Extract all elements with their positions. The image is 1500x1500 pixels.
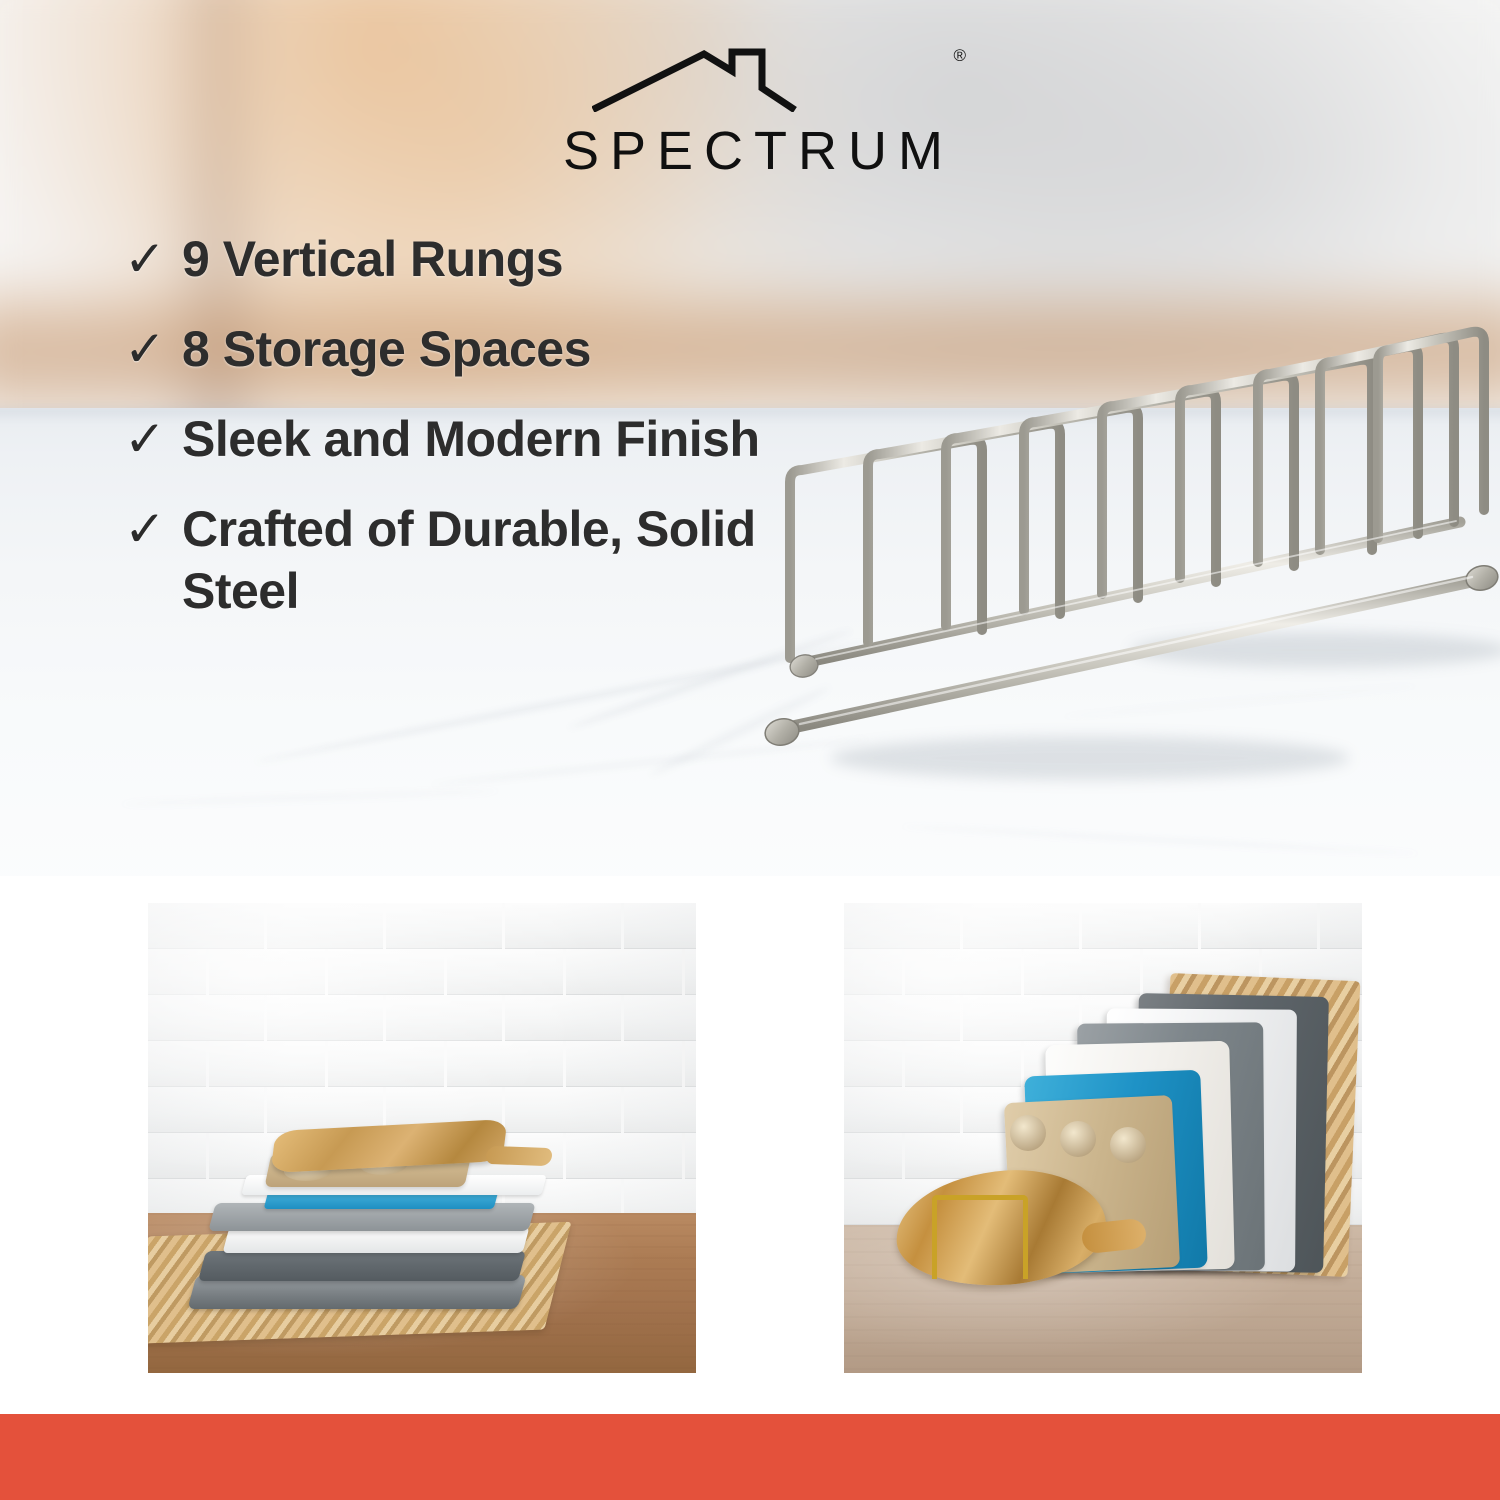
footer-accent-bar bbox=[0, 1414, 1500, 1500]
feature-list: ✓ 9 Vertical Rungs ✓ 8 Storage Spaces ✓ … bbox=[124, 228, 784, 650]
wire-rack-illustration bbox=[760, 258, 1500, 828]
board-handle bbox=[484, 1146, 553, 1166]
feature-label: Sleek and Modern Finish bbox=[182, 408, 784, 470]
brand-wordmark: SPECTRUM bbox=[552, 124, 954, 178]
feature-label: 8 Storage Spaces bbox=[182, 318, 784, 380]
feature-label: 9 Vertical Rungs bbox=[182, 228, 784, 290]
feature-label: Crafted of Durable, Solid Steel bbox=[182, 498, 784, 622]
lifestyle-photo-before bbox=[148, 903, 696, 1373]
product-marketing-image: SPECTRUM® ✓ 9 Vertical Rungs ✓ 8 Storage… bbox=[0, 0, 1500, 1500]
feature-item: ✓ Sleek and Modern Finish bbox=[124, 408, 784, 470]
rack-shadow bbox=[830, 632, 1500, 780]
house-roof-chimney-icon bbox=[592, 44, 910, 112]
check-icon: ✓ bbox=[124, 498, 182, 560]
feature-item: ✓ 9 Vertical Rungs bbox=[124, 228, 784, 290]
muffin-cup bbox=[1060, 1121, 1096, 1157]
rack-rungs bbox=[790, 332, 1484, 658]
feature-item: ✓ 8 Storage Spaces bbox=[124, 318, 784, 380]
check-icon: ✓ bbox=[124, 408, 182, 470]
muffin-tray-dark bbox=[198, 1251, 526, 1281]
check-icon: ✓ bbox=[124, 228, 182, 290]
hero-panel: SPECTRUM® ✓ 9 Vertical Rungs ✓ 8 Storage… bbox=[0, 0, 1500, 876]
feature-item: ✓ Crafted of Durable, Solid Steel bbox=[124, 498, 784, 622]
muffin-cup bbox=[1010, 1115, 1046, 1151]
brand-logo: SPECTRUM® bbox=[552, 44, 950, 178]
check-icon: ✓ bbox=[124, 318, 182, 380]
brass-divider-wire bbox=[932, 1195, 1028, 1279]
wire-rack-product bbox=[760, 258, 1500, 828]
muffin-cup bbox=[1110, 1127, 1146, 1163]
lifestyle-photo-after bbox=[844, 903, 1362, 1373]
registered-trademark-symbol: ® bbox=[953, 46, 966, 66]
